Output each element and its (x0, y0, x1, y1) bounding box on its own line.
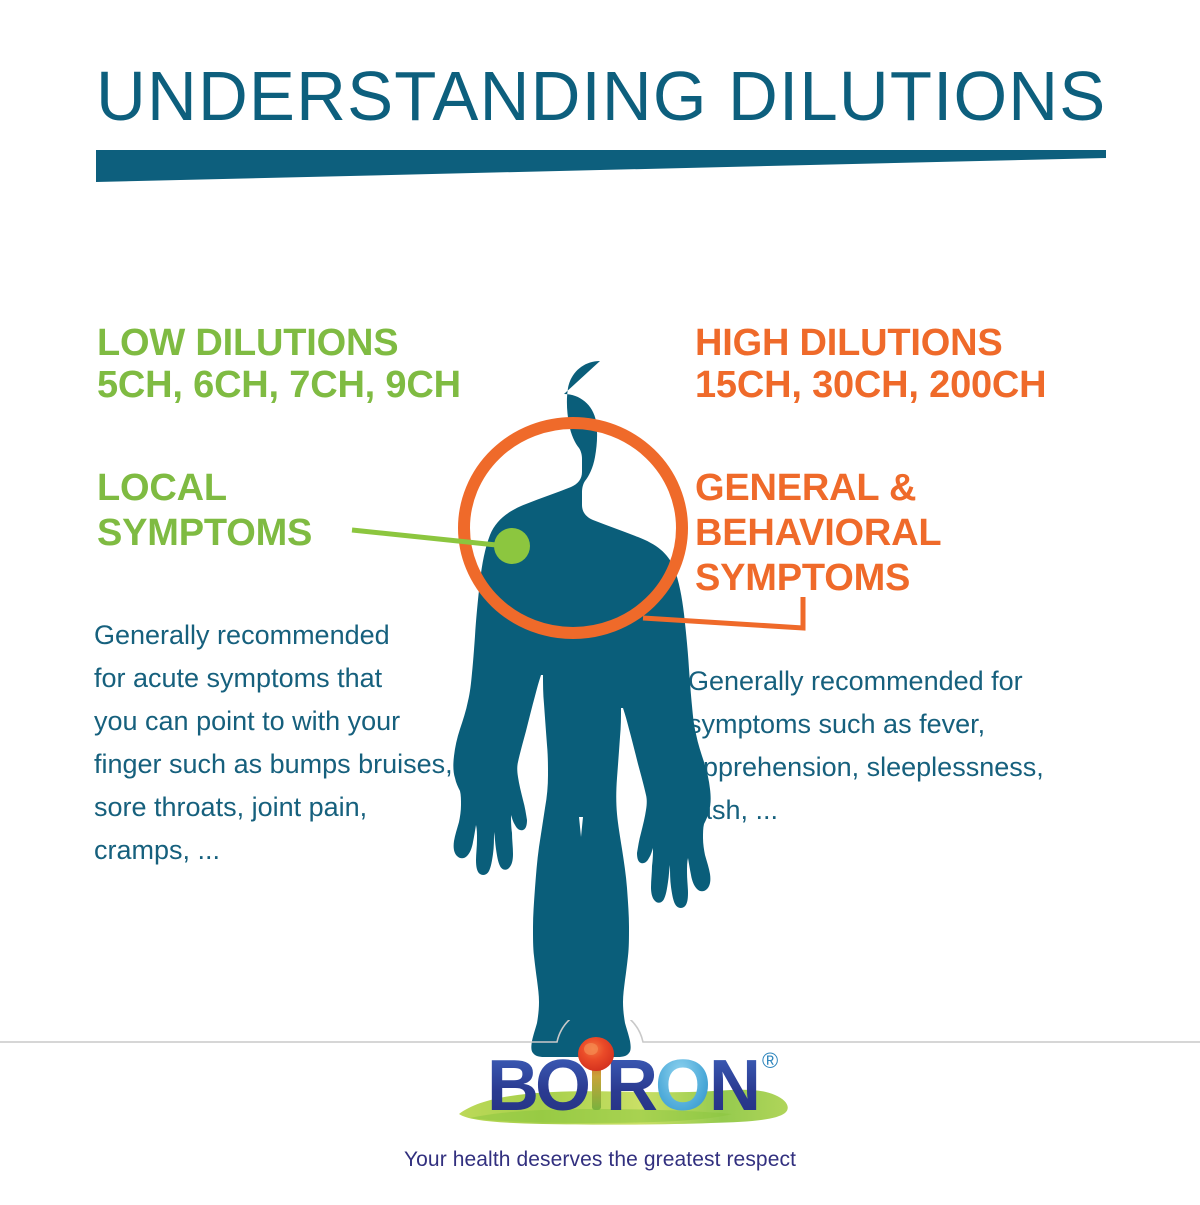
logo-letter-o-2: O (655, 1046, 711, 1126)
logo-letter-b: B (487, 1046, 539, 1126)
poppy-highlight (584, 1043, 598, 1055)
footer: B O R O N ® (0, 1020, 1200, 1200)
general-symptoms-description: Generally recommended for symptoms such … (688, 660, 1118, 832)
high-dilutions-heading: HIGH DILUTIONS 15CH, 30CH, 200CH (695, 322, 1046, 406)
brand-tagline: Your health deserves the greatest respec… (0, 1148, 1200, 1172)
low-dilutions-heading: LOW DILUTIONS 5CH, 6CH, 7CH, 9CH (97, 322, 461, 406)
boiron-wordmark: B O R O N (487, 1046, 761, 1126)
page-title: UNDERSTANDING DILUTIONS (96, 58, 1091, 134)
boiron-logo[interactable]: B O R O N ® (0, 1030, 1200, 1140)
local-symptoms-heading: LOCAL SYMPTOMS (97, 466, 312, 556)
header-wedge-divider (96, 150, 1106, 190)
torso-highlight-circle (464, 423, 682, 633)
registered-trademark-mark: ® (762, 1048, 778, 1073)
boiron-logo-svg: B O R O N ® (0, 1030, 1200, 1140)
local-symptoms-marker-dot (494, 528, 530, 564)
logo-letter-r: R (606, 1046, 658, 1126)
infographic-root: UNDERSTANDING DILUTIONS LOW DILUTIONS 5C… (0, 0, 1200, 1200)
local-symptoms-connector-line (352, 530, 506, 546)
header-wedge-svg (96, 150, 1106, 190)
general-behavioral-symptoms-heading: GENERAL & BEHAVIORAL SYMPTOMS (695, 466, 941, 601)
general-symptoms-connector-line (643, 597, 803, 628)
poppy-flower-icon (578, 1037, 614, 1071)
logo-letter-n: N (709, 1046, 761, 1126)
local-symptoms-description: Generally recommended for acute symptoms… (94, 614, 534, 872)
wedge-shape (96, 150, 1106, 182)
